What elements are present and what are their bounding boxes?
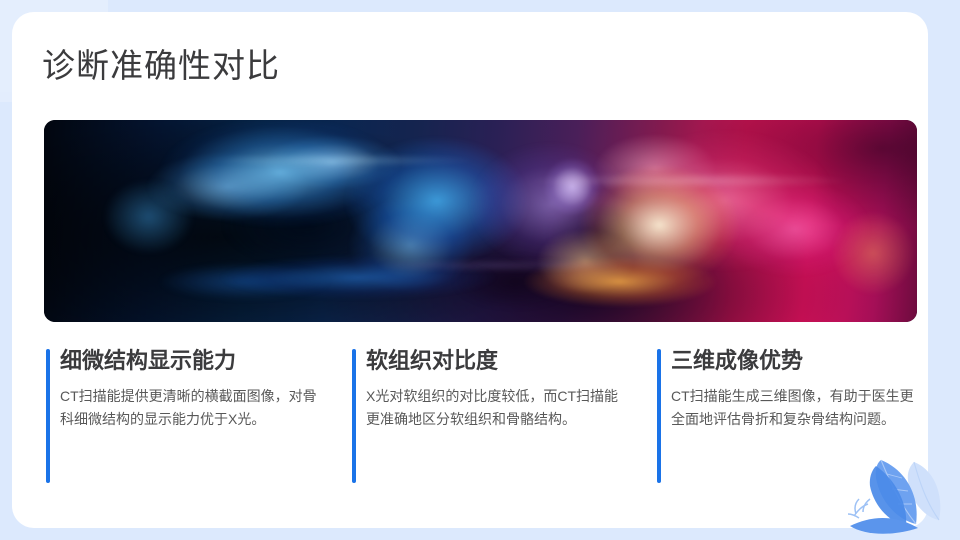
accent-bar-3	[657, 349, 661, 483]
feature-title-2: 软组织对比度	[366, 346, 624, 376]
feature-column-3: 三维成像优势 CT扫描能生成三维图像，有助于医生更全面地评估骨折和复杂骨结构问题…	[657, 346, 925, 483]
feature-body-3: CT扫描能生成三维图像，有助于医生更全面地评估骨折和复杂骨结构问题。	[671, 385, 925, 431]
feature-body-2: X光对软组织的对比度较低，而CT扫描能更准确地区分软组织和骨骼结构。	[366, 385, 624, 431]
feature-column-2: 软组织对比度 X光对软组织的对比度较低，而CT扫描能更准确地区分软组织和骨骼结构…	[352, 346, 624, 483]
banner-image	[44, 120, 917, 322]
page-title: 诊断准确性对比	[42, 44, 280, 88]
background-right-band	[928, 0, 960, 540]
slide-root: 诊断准确性对比 细微结构显示能力 CT扫描能提供更清晰的横截面图像，对骨科细微结…	[0, 0, 960, 540]
accent-bar-1	[46, 349, 50, 483]
feature-title-1: 细微结构显示能力	[60, 346, 329, 376]
feature-columns: 细微结构显示能力 CT扫描能提供更清晰的横截面图像，对骨科细微结构的显示能力优于…	[12, 346, 928, 496]
accent-bar-2	[352, 349, 356, 483]
feature-body-1: CT扫描能提供更清晰的横截面图像，对骨科细微结构的显示能力优于X光。	[60, 385, 329, 431]
feature-title-3: 三维成像优势	[671, 346, 925, 376]
banner-wisps	[44, 120, 917, 322]
content-card: 诊断准确性对比 细微结构显示能力 CT扫描能提供更清晰的横截面图像，对骨科细微结…	[12, 12, 928, 528]
feature-column-1: 细微结构显示能力 CT扫描能提供更清晰的横截面图像，对骨科细微结构的显示能力优于…	[46, 346, 329, 483]
